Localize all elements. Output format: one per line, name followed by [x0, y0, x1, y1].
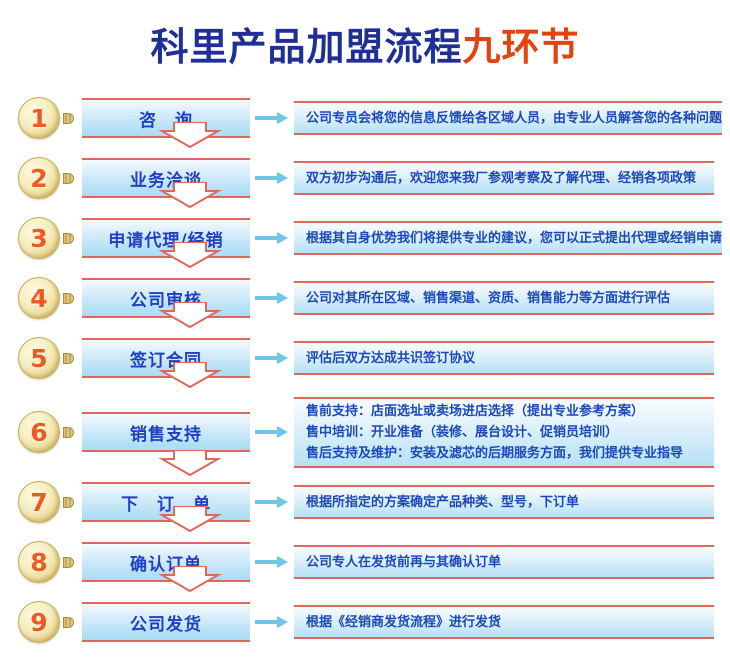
arrow-down-icon [158, 450, 222, 476]
lightbulb-globe-icon: 3 [18, 217, 60, 259]
flow-step-row: 6销售支持售前支持：店面选址或卖场进店选择（提出专业参考方案）售中培训：开业准备… [0, 396, 730, 468]
page-title-accent: 九环节 [463, 25, 580, 69]
lightbulb-screw-icon [63, 173, 74, 184]
step-description-box-9: 根据《经销商发货流程》进行发货 [294, 605, 714, 639]
step-description-box-3: 根据其自身优势我们将提供专业的建议，您可以正式提出代理或经销申请 [294, 221, 722, 255]
arrow-right-icon [253, 426, 291, 438]
step-number: 8 [30, 550, 47, 575]
step-label: 销售支持 [130, 420, 202, 445]
lightbulb-icon: 7 [18, 479, 80, 525]
arrow-down-icon [158, 182, 222, 208]
step-description-line: 评估后双方达成共识签订协议 [306, 348, 714, 369]
step-description-box-1: 公司专员会将您的信息反馈给各区域人员，由专业人员解答您的各种问题 [294, 101, 722, 135]
step-number: 4 [30, 286, 47, 311]
arrow-right-icon [253, 292, 291, 304]
lightbulb-icon: 2 [18, 155, 80, 201]
step-description-line: 根据其自身优势我们将提供专业的建议，您可以正式提出代理或经销申请 [306, 228, 722, 249]
lightbulb-globe-icon: 6 [18, 411, 60, 453]
step-number: 7 [30, 490, 47, 515]
step-box-9[interactable]: 公司发货 [82, 602, 250, 642]
step-box-6[interactable]: 销售支持 [82, 412, 250, 452]
lightbulb-globe-icon: 5 [18, 337, 60, 379]
flow-down-arrow [158, 122, 222, 148]
flow-step-row: 3申请代理/经销根据其自身优势我们将提供专业的建议，您可以正式提出代理或经销申请 [0, 216, 730, 260]
arrow-down-icon [158, 362, 222, 388]
flowchart: 1咨 询公司专员会将您的信息反馈给各区域人员，由专业人员解答您的各种问题2业务洽… [0, 96, 730, 644]
step-description-box-5: 评估后双方达成共识签订协议 [294, 341, 714, 375]
arrow-down-icon [158, 302, 222, 328]
step-number: 9 [30, 610, 47, 635]
step-description-box-6: 售前支持：店面选址或卖场进店选择（提出专业参考方案）售中培训：开业准备（装修、展… [294, 397, 714, 468]
flow-down-arrow [158, 450, 222, 476]
lightbulb-icon: 5 [18, 335, 80, 381]
step-description-line: 公司专员会将您的信息反馈给各区域人员，由专业人员解答您的各种问题 [306, 108, 722, 129]
lightbulb-globe-icon: 8 [18, 541, 60, 583]
lightbulb-globe-icon: 4 [18, 277, 60, 319]
step-number: 5 [30, 346, 47, 371]
lightbulb-icon: 6 [18, 409, 80, 455]
lightbulb-globe-icon: 2 [18, 157, 60, 199]
flow-down-arrow [158, 182, 222, 208]
arrow-down-icon [158, 242, 222, 268]
lightbulb-globe-icon: 7 [18, 481, 60, 523]
flow-step-row: 4公司审核公司对其所在区域、销售渠道、资质、销售能力等方面进行评估 [0, 276, 730, 320]
step-number: 1 [30, 106, 47, 131]
flow-step-row: 2业务洽谈双方初步沟通后，欢迎您来我厂参观考察及了解代理、经销各项政策 [0, 156, 730, 200]
step-description-box-8: 公司专人在发货前再与其确认订单 [294, 545, 714, 579]
arrow-right-icon [253, 556, 291, 568]
lightbulb-screw-icon [63, 557, 74, 568]
arrow-down-icon [158, 506, 222, 532]
flow-down-arrow [158, 362, 222, 388]
lightbulb-screw-icon [63, 113, 74, 124]
step-description-line: 根据所指定的方案确定产品种类、型号，下订单 [306, 492, 714, 513]
arrow-right-icon [253, 232, 291, 244]
lightbulb-icon: 9 [18, 599, 80, 645]
step-description-line: 售中培训：开业准备（装修、展台设计、促销员培训） [306, 422, 714, 443]
flow-step-row: 1咨 询公司专员会将您的信息反馈给各区域人员，由专业人员解答您的各种问题 [0, 96, 730, 140]
lightbulb-screw-icon [63, 293, 74, 304]
step-number: 2 [30, 166, 47, 191]
flow-down-arrow [158, 566, 222, 592]
flow-step-row: 8确认订单公司专人在发货前再与其确认订单 [0, 540, 730, 584]
step-description-line: 根据《经销商发货流程》进行发货 [306, 612, 714, 633]
step-description-box-4: 公司对其所在区域、销售渠道、资质、销售能力等方面进行评估 [294, 281, 714, 315]
lightbulb-screw-icon [63, 427, 74, 438]
step-description-line: 公司对其所在区域、销售渠道、资质、销售能力等方面进行评估 [306, 288, 714, 309]
lightbulb-screw-icon [63, 353, 74, 364]
step-description-box-7: 根据所指定的方案确定产品种类、型号，下订单 [294, 485, 714, 519]
lightbulb-icon: 8 [18, 539, 80, 585]
arrow-right-icon [253, 112, 291, 124]
arrow-right-icon [253, 172, 291, 184]
flow-down-arrow [158, 242, 222, 268]
flow-down-arrow [158, 506, 222, 532]
step-description-line: 售前支持：店面选址或卖场进店选择（提出专业参考方案） [306, 401, 714, 422]
lightbulb-screw-icon [63, 497, 74, 508]
flow-step-row: 5签订合同评估后双方达成共识签订协议 [0, 336, 730, 380]
arrow-down-icon [158, 122, 222, 148]
arrow-down-icon [158, 566, 222, 592]
step-description-box-2: 双方初步沟通后，欢迎您来我厂参观考察及了解代理、经销各项政策 [294, 161, 714, 195]
step-number: 6 [30, 420, 47, 445]
step-description-line: 售后支持及维护：安装及滤芯的后期服务方面，我们提供专业指导 [306, 443, 714, 464]
page-title: 科里产品加盟流程九环节 [0, 24, 730, 70]
step-number: 3 [30, 226, 47, 251]
lightbulb-icon: 4 [18, 275, 80, 321]
step-description-line: 公司专人在发货前再与其确认订单 [306, 552, 714, 573]
lightbulb-screw-icon [63, 233, 74, 244]
lightbulb-screw-icon [63, 617, 74, 628]
flow-down-arrow [158, 302, 222, 328]
lightbulb-icon: 1 [18, 95, 80, 141]
arrow-right-icon [253, 496, 291, 508]
lightbulb-globe-icon: 9 [18, 601, 60, 643]
page-title-main: 科里产品加盟流程 [150, 25, 462, 69]
lightbulb-globe-icon: 1 [18, 97, 60, 139]
flow-step-row: 9公司发货根据《经销商发货流程》进行发货 [0, 600, 730, 644]
arrow-right-icon [253, 352, 291, 364]
step-description-line: 双方初步沟通后，欢迎您来我厂参观考察及了解代理、经销各项政策 [306, 168, 714, 189]
lightbulb-icon: 3 [18, 215, 80, 261]
step-label: 公司发货 [130, 610, 202, 635]
arrow-right-icon [253, 616, 291, 628]
flow-step-row: 7下 订 单根据所指定的方案确定产品种类、型号，下订单 [0, 480, 730, 524]
